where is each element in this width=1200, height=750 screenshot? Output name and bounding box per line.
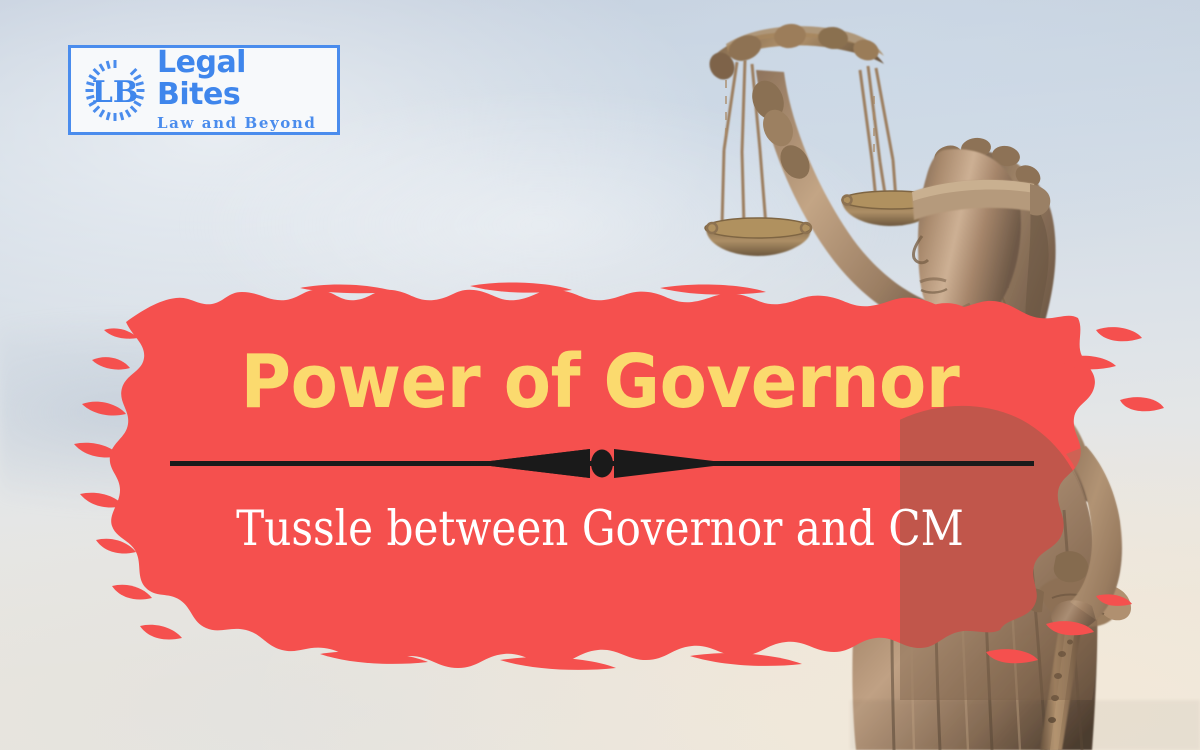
logo-text-block: Legal Bites Law and Beyond: [157, 47, 337, 133]
legal-bites-article-banner: Power of Governor Tussle between Governo…: [0, 0, 1200, 750]
divider-center-dot: [591, 450, 613, 478]
logo-brand-name: Legal Bites: [157, 47, 337, 111]
lb-monogram-text: LB: [92, 75, 138, 110]
legal-bites-logo[interactable]: LB Legal Bites Law and Beyond: [68, 45, 340, 135]
double-arrow-dot-divider: [170, 447, 1034, 481]
divider-arrow-right: [614, 449, 734, 478]
lb-monogram-sunburst-icon: LB: [83, 58, 147, 122]
logo-tagline: Law and Beyond: [157, 113, 337, 133]
